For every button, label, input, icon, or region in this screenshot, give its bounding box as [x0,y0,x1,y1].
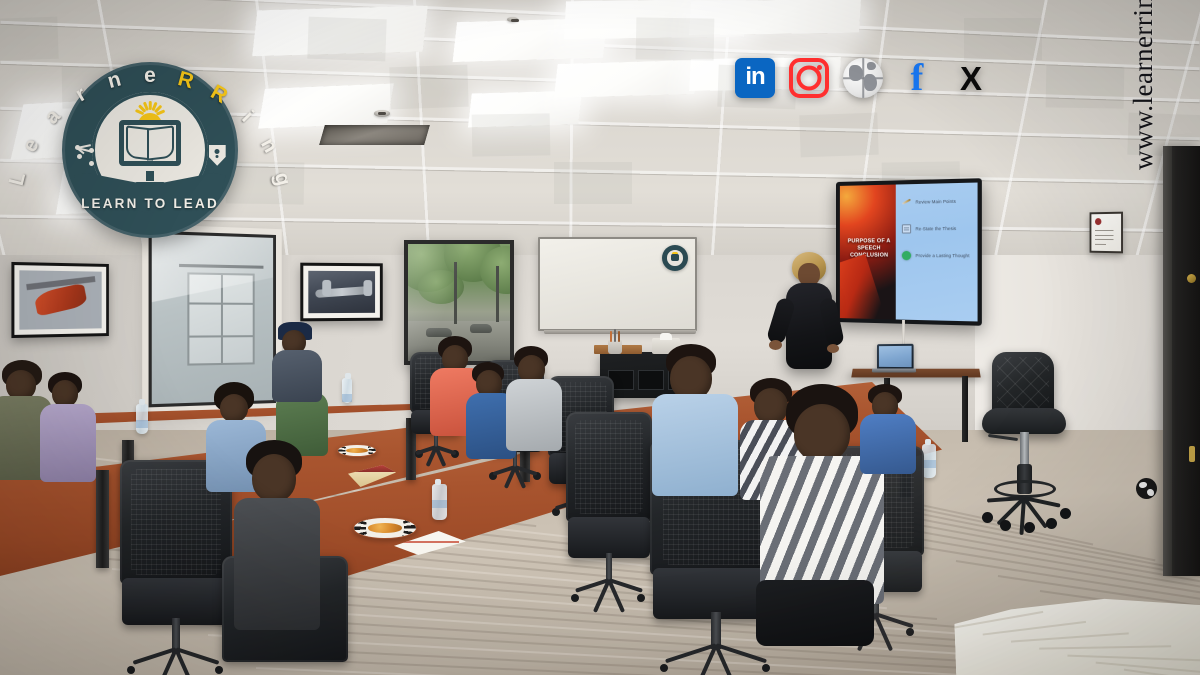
photo-image [19,270,101,329]
smoke-detector-icon [507,17,518,22]
drafting-stool-chair [978,352,1070,532]
globe-watermark-icon [1136,478,1157,499]
stool-seat [982,408,1066,434]
water-bottle [432,484,447,520]
presenter-hand-left [769,340,782,350]
ceiling-tile [307,17,386,62]
door-jamb [1163,146,1172,576]
tv-screen: PURPOSE OF A SPEECH CONCLUSION Review Ma… [840,183,978,322]
framed-certificate [1090,212,1123,254]
slide-title: PURPOSE OF A SPEECH CONCLUSION [843,239,896,260]
pencil-icon [902,198,911,207]
ceiling-tile [554,162,632,204]
certificate-seal-icon [1095,219,1101,226]
laptop-keyboard [872,369,916,373]
ceiling-tile [636,17,715,60]
stool-caster [982,512,993,523]
marker-cup [608,340,622,354]
student-person [40,372,100,482]
water-bottle [342,378,352,403]
bullet-text: Provide a Lasting Thought [916,253,970,259]
instagram-icon[interactable] [789,58,829,98]
ceiling-light-panel [689,0,861,35]
water-bottle [136,404,148,434]
green-dot-icon [902,251,911,260]
student-person [224,440,324,630]
door-frame [1163,146,1200,576]
presenter-laptop [872,344,916,374]
framed-photo-osprey [300,263,382,322]
stool-base [980,492,1068,526]
slide-bullet: Provide a Lasting Thought [902,251,972,260]
slide-bullet: Re-State the Thesis [902,224,972,234]
snack-plate [336,443,378,458]
ceiling-tile [964,18,1042,60]
node-dot [89,161,94,166]
facebook-icon[interactable]: f [897,58,937,98]
monitor-stand [146,171,154,181]
ceiling-light-panel [258,83,394,128]
door-strike-plate [1189,446,1195,462]
document-icon [902,224,911,233]
student-person [506,346,564,450]
logo-tagline: LEARN TO LEAD [62,196,238,211]
x-twitter-icon[interactable]: X [951,58,991,98]
open-ceiling-vent [319,125,430,145]
photo-image [308,271,375,313]
network-node-icon [75,145,95,167]
node-dot [77,154,82,159]
ceiling-tile [472,113,551,156]
student-person [272,322,324,400]
cloth-fold [1011,632,1129,642]
ceiling-tile [389,65,468,110]
linkedin-icon[interactable]: in [735,58,775,98]
stool-caster [1060,508,1071,519]
cloth-fold [1039,645,1171,649]
marker-tray [544,330,696,334]
water-bottle [922,444,936,478]
bullet-text: Review Main Points [916,198,956,205]
desk-leg [962,376,968,442]
social-media-bar: in f X [735,58,991,98]
task-chair [566,412,652,602]
logo-letter: e [144,64,156,88]
photo-mat [14,265,106,335]
wall-mounted-tv: PURPOSE OF A SPEECH CONCLUSION Review Ma… [836,178,982,326]
stool-caster [1046,518,1057,529]
classroom-photo: PURPOSE OF A SPEECH CONCLUSION Review Ma… [0,0,1200,675]
website-url: www.learnerring.com [1128,0,1159,170]
door-knob-icon[interactable] [1187,274,1196,283]
ceiling-light-panel [554,60,698,98]
stool-caster [1024,522,1035,533]
interior-window [149,231,276,408]
ceiling-tile [1046,65,1125,108]
presenter-hand-right [827,344,839,353]
photo-mat [303,266,380,319]
ceiling-tile [799,113,878,158]
cloth-fold [1067,655,1200,662]
height-lever [988,434,1018,441]
slide-title-panel: PURPOSE OF A SPEECH CONCLUSION [840,185,896,320]
task-chair [120,460,232,674]
snack-plate [352,516,418,540]
certificate-paper [1091,214,1121,252]
stool-caster [1000,520,1011,531]
open-book-icon [126,127,174,155]
globe-website-icon[interactable] [843,58,883,98]
laptop-lid [877,344,914,369]
ceiling-tile [0,17,59,62]
whiteboard-logo [662,245,688,271]
student-person [860,384,918,474]
table-leg [96,470,109,568]
learnerring-logo: LearneRRing LEARN TO LEAD [62,62,238,238]
framed-photo-biplane [11,262,108,338]
slide-bullets-panel: Review Main Points Re-State the Thesis P… [896,183,978,322]
cloth-fold [983,621,1086,635]
student-person [652,344,738,494]
smoke-detector-icon [374,110,390,117]
whiteboard [538,237,697,331]
bullet-text: Re-State the Thesis [916,225,957,232]
laptop-screen [879,346,912,367]
slide-bullet: Review Main Points [902,196,972,207]
student-legs [756,580,874,646]
